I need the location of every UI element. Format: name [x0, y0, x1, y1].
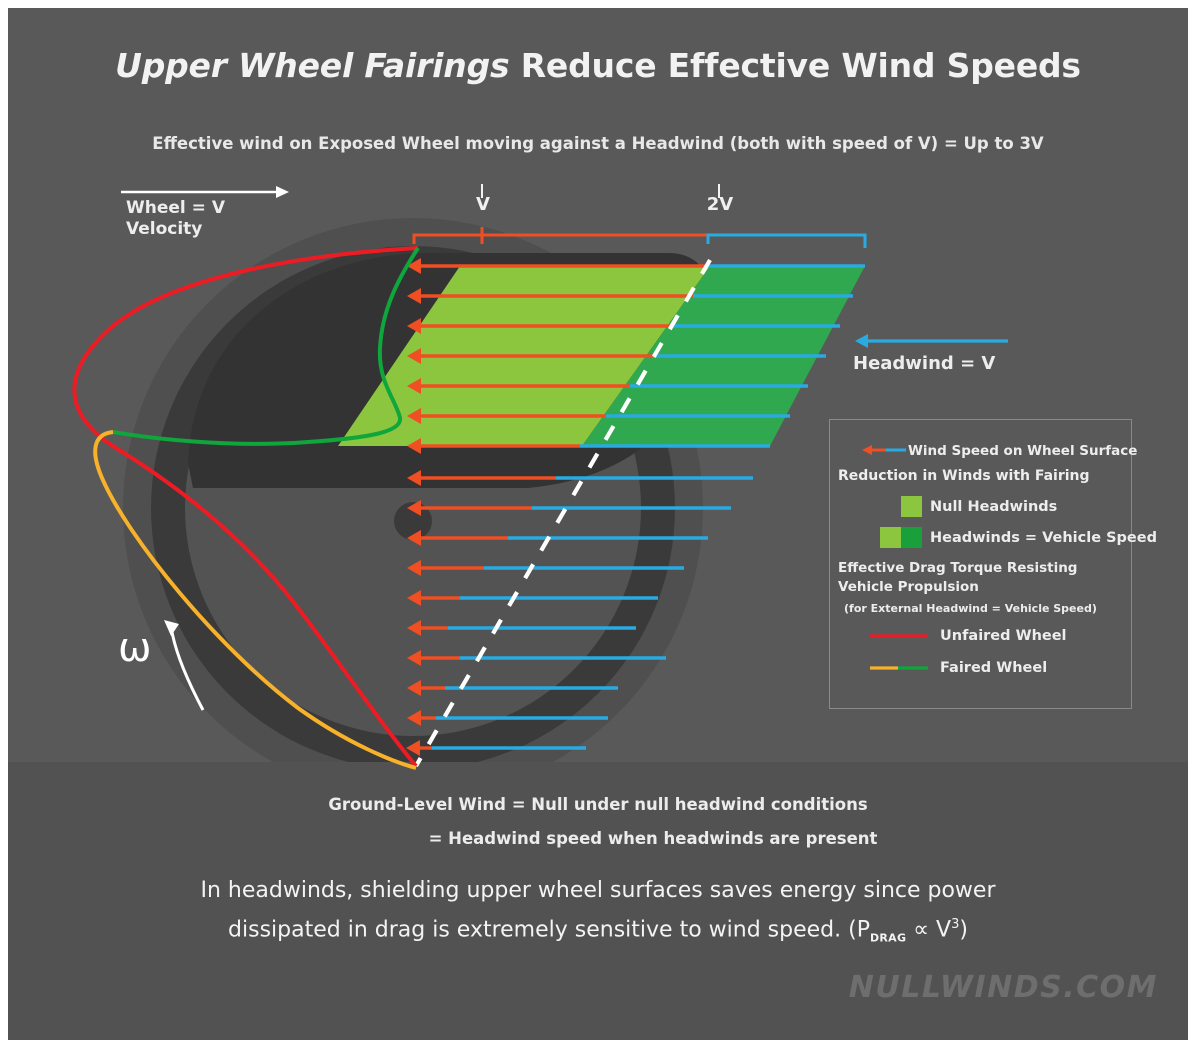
legend-swatch-null-headwinds [901, 496, 922, 517]
scale-ticks [482, 184, 719, 198]
legend-label-drag-line1: Effective Drag Torque Resisting [838, 560, 1077, 576]
ground-text-line2: = Headwind speed when headwinds are pres… [8, 822, 1188, 856]
ground-text-line1: Ground-Level Wind = Null under null head… [328, 795, 867, 814]
legend-label-drag-note: (for External Headwind = Vehicle Speed) [844, 602, 1097, 615]
faired-wheel-curve-lower [95, 432, 416, 768]
wind-row [407, 590, 658, 606]
conclusion-line1: In headwinds, shielding upper wheel surf… [8, 874, 1188, 908]
conclusion-line2-c: ) [959, 917, 968, 942]
blue-bracket [708, 235, 865, 248]
rotation-arrow [164, 620, 203, 710]
headwind-label: Headwind = V [853, 353, 995, 374]
diagram-canvas: Upper Wheel Fairings Reduce Effective Wi… [8, 8, 1188, 1040]
wind-row [407, 710, 608, 726]
wind-row [407, 650, 666, 666]
conclusion-line2: dissipated in drag is extremely sensitiv… [8, 908, 1188, 956]
legend-wind-speed-swatch [862, 445, 906, 455]
legend-box: Wind Speed on Wheel Surface Reduction in… [829, 419, 1132, 709]
orange-bracket [414, 227, 708, 244]
wind-row [407, 620, 636, 636]
ground-level-wind-note: Ground-Level Wind = Null under null head… [8, 788, 1188, 856]
conclusion-line2-a: dissipated in drag is extremely sensitiv… [228, 917, 870, 942]
wind-row [407, 530, 708, 546]
legend-swatch-headwinds-light [880, 527, 901, 548]
wind-row [406, 740, 586, 756]
watermark: NULLWINDS.COM [849, 970, 1158, 1005]
wind-row [407, 680, 618, 696]
conclusion-subscript: DRAG [870, 932, 906, 945]
conclusion-text: In headwinds, shielding upper wheel surf… [8, 874, 1188, 956]
legend-label-drag-line2: Vehicle Propulsion [838, 579, 979, 595]
legend-label-faired: Faired Wheel [940, 660, 1047, 676]
conclusion-line2-b: ∝ V [906, 917, 951, 942]
legend-label-reduction: Reduction in Winds with Fairing [838, 468, 1090, 484]
legend-label-null-headwinds: Null Headwinds [930, 499, 1057, 515]
wind-row [407, 560, 684, 576]
legend-label-headwinds-vehicle-speed: Headwinds = Vehicle Speed [930, 530, 1157, 546]
legend-label-wind-speed: Wind Speed on Wheel Surface [908, 443, 1137, 459]
headwind-arrow [855, 334, 1008, 348]
legend-label-unfaired: Unfaired Wheel [940, 628, 1067, 644]
omega-symbol: ω [118, 628, 152, 668]
unfaired-wheel-curve [74, 248, 418, 766]
infographic-root: Upper Wheel Fairings Reduce Effective Wi… [0, 0, 1196, 1048]
legend-swatch-headwinds-dark [901, 527, 922, 548]
wind-row [407, 500, 731, 516]
